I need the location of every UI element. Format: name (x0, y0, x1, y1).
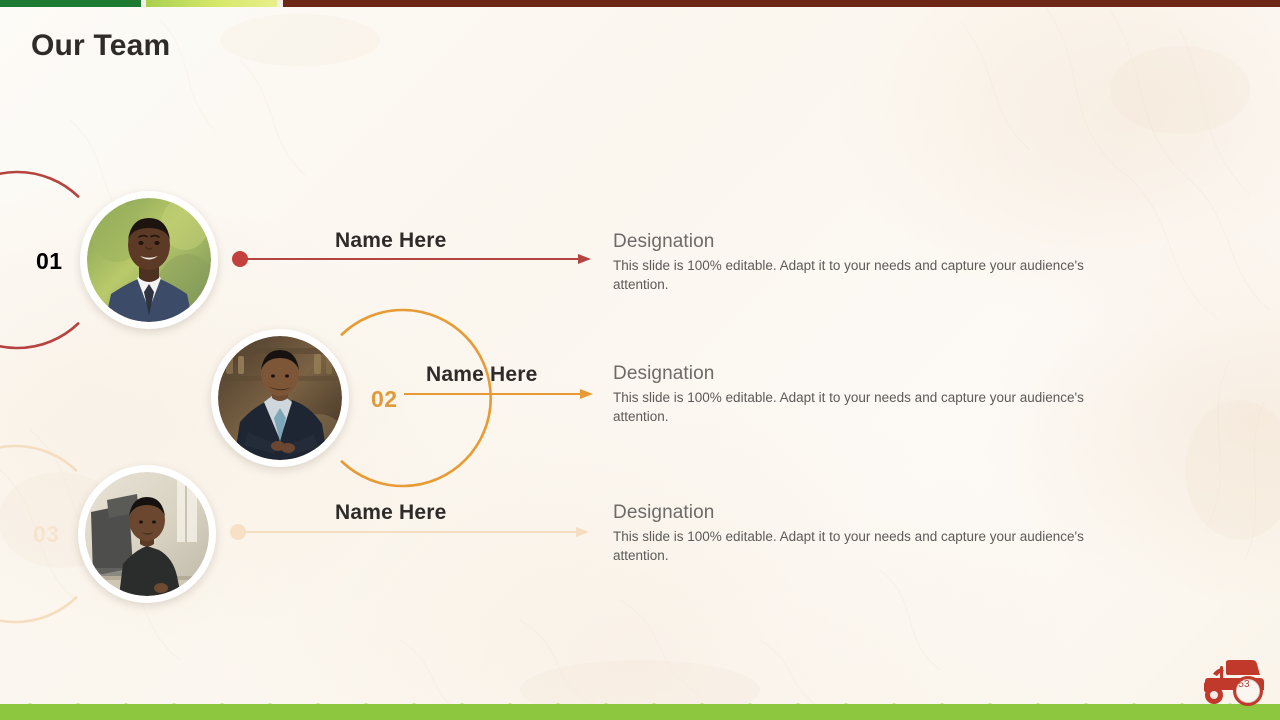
member-1-designation: Designation (613, 231, 1113, 253)
topbar-segment-maroon (283, 0, 1280, 7)
member-2-photo (211, 329, 349, 467)
member-2-photo-inner (218, 336, 342, 460)
member-1-name: Name Here (335, 229, 447, 253)
member-1-arrow (246, 252, 594, 266)
member-3-description: This slide is 100% editable. Adapt it to… (613, 527, 1097, 566)
top-accent-bar (0, 0, 1280, 7)
page-title: Our Team (31, 29, 170, 63)
topbar-segment-green (0, 0, 141, 7)
grass-strip (0, 698, 1280, 720)
member-3-photo (78, 465, 216, 603)
member-2-number: 02 (371, 386, 398, 413)
member-1-description: This slide is 100% editable. Adapt it to… (613, 256, 1097, 295)
slide-canvas: Our Team 01 (0, 0, 1280, 720)
member-3-number: 03 (33, 521, 60, 548)
member-3-arrow-shaft (244, 531, 582, 533)
member-3-arrow (244, 525, 592, 539)
member-1-arrow-head (578, 254, 591, 264)
member-2-arrow-shaft (404, 393, 586, 395)
member-3-arrow-head (576, 527, 589, 537)
member-2-arrow-head (580, 389, 593, 399)
member-3-photo-inner (85, 472, 209, 596)
member-1-number: 01 (36, 248, 63, 275)
member-2-designation: Designation (613, 363, 1113, 385)
member-2-arrow (404, 387, 596, 401)
member-2-text-block: Designation This slide is 100% editable.… (613, 363, 1113, 427)
member-1-photo-inner (87, 198, 211, 322)
member-2-name: Name Here (426, 363, 538, 387)
member-1-arrow-shaft (246, 258, 584, 260)
page-number: 53 (1230, 670, 1258, 698)
member-3-text-block: Designation This slide is 100% editable.… (613, 502, 1113, 566)
topbar-segment-lime (146, 0, 277, 7)
member-1-text-block: Designation This slide is 100% editable.… (613, 231, 1113, 295)
member-3-name: Name Here (335, 501, 447, 525)
member-2-description: This slide is 100% editable. Adapt it to… (613, 388, 1097, 427)
member-3-designation: Designation (613, 502, 1113, 524)
